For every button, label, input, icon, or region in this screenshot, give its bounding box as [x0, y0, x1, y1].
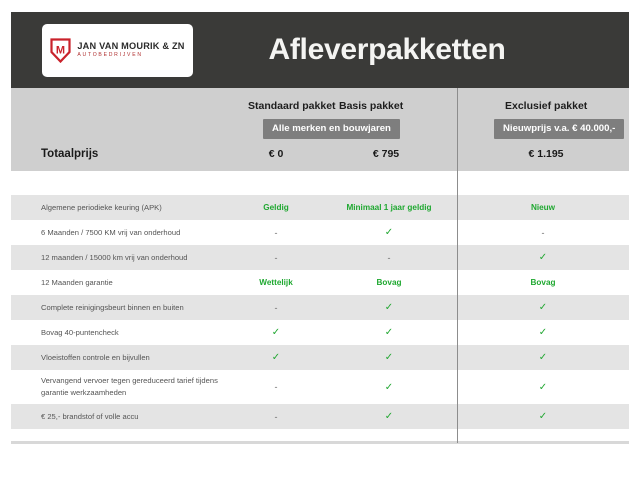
table-row: Bovag 40-puntencheck✓✓✓ — [11, 320, 629, 345]
feature-label: € 25,- brandstof of volle accu — [11, 411, 231, 423]
cell-value-col1: - — [231, 253, 321, 263]
column-divider-body — [457, 171, 458, 443]
column-label-exclusief: Exclusief pakket — [505, 100, 587, 112]
cell-value-col2: Bovag — [321, 278, 457, 287]
cell-value-col1: - — [231, 228, 321, 238]
cell-value-col3: ✓ — [457, 411, 629, 422]
cell-value-col3: ✓ — [457, 302, 629, 313]
cell-value-col2: Minimaal 1 jaar geldig — [321, 203, 457, 212]
cell-value-col3: ✓ — [457, 327, 629, 338]
feature-label: 12 Maanden garantie — [11, 277, 231, 289]
cell-value-col3: ✓ — [457, 352, 629, 363]
cell-value-col1: - — [231, 382, 321, 392]
logo-company-subtitle: AUTOBEDRIJVEN — [77, 53, 184, 58]
cell-value-col2: ✓ — [321, 302, 457, 313]
cell-value-col3: ✓ — [457, 252, 629, 263]
cell-value-col3: Nieuw — [457, 203, 629, 212]
table-row: Vloeistoffen controle en bijvullen✓✓✓ — [11, 345, 629, 370]
total-price-standaard: € 0 — [231, 148, 321, 160]
table-top-spacer — [11, 171, 629, 195]
feature-label: 12 maanden / 15000 km vrij van onderhoud — [11, 252, 231, 264]
cell-value-col1: ✓ — [231, 327, 321, 338]
cell-value-col1: ✓ — [231, 352, 321, 363]
badge-alle-merken-en-bouwjaren: Alle merken en bouwjaren — [263, 119, 400, 139]
total-price-exclusief: € 1.195 — [501, 148, 591, 160]
table-rows-host: Algemene periodieke keuring (APK)GeldigM… — [11, 195, 629, 429]
page-header: M JAN VAN MOURIK & ZN AUTOBEDRIJVEN Afle… — [11, 12, 629, 88]
table-row: Complete reinigingsbeurt binnen en buite… — [11, 295, 629, 320]
table-row: 6 Maanden / 7500 KM vrij van onderhoud-✓… — [11, 220, 629, 245]
cell-value-col1: Wettelijk — [231, 278, 321, 287]
cell-value-col3: Bovag — [457, 278, 629, 287]
table-row: 12 Maanden garantieWettelijkBovagBovag — [11, 270, 629, 295]
cell-value-col2: ✓ — [321, 352, 457, 363]
table-bottom-edge — [11, 441, 629, 444]
total-price-label: Totaalprijs — [41, 148, 98, 160]
logo-company-name: JAN VAN MOURIK & ZN — [77, 42, 184, 51]
cell-value-col2: ✓ — [321, 411, 457, 422]
cell-value-col2: ✓ — [321, 327, 457, 338]
column-labels: Standaard pakket Basis pakket Exclusief … — [11, 100, 629, 116]
company-logo: M JAN VAN MOURIK & ZN AUTOBEDRIJVEN — [42, 24, 193, 77]
svg-text:M: M — [56, 44, 65, 56]
cell-value-col2: - — [321, 253, 457, 263]
logo-text: JAN VAN MOURIK & ZN AUTOBEDRIJVEN — [77, 42, 184, 58]
badge-nieuwprijs: Nieuwprijs v.a. € 40.000,- — [494, 119, 624, 139]
features-table: Algemene periodieke keuring (APK)GeldigM… — [11, 171, 629, 443]
feature-label: Vloeistoffen controle en bijvullen — [11, 352, 231, 364]
cell-value-col1: - — [231, 303, 321, 313]
feature-label: Complete reinigingsbeurt binnen en buite… — [11, 302, 231, 314]
total-price-row: Totaalprijs € 0 € 795 € 1.195 — [11, 143, 629, 171]
afleverpakketten-page: M JAN VAN MOURIK & ZN AUTOBEDRIJVEN Afle… — [0, 0, 640, 480]
feature-label: 6 Maanden / 7500 KM vrij van onderhoud — [11, 227, 231, 239]
cell-value-col1: Geldig — [231, 203, 321, 212]
logo-inner: M JAN VAN MOURIK & ZN AUTOBEDRIJVEN — [50, 38, 184, 63]
cell-value-col2: ✓ — [321, 382, 457, 393]
table-row: € 25,- brandstof of volle accu-✓✓ — [11, 404, 629, 429]
cell-value-col2: ✓ — [321, 227, 457, 238]
cell-value-col3: ✓ — [457, 382, 629, 393]
page-title: Afleverpakketten — [193, 33, 629, 67]
total-price-basis: € 795 — [341, 148, 431, 160]
table-row: Algemene periodieke keuring (APK)GeldigM… — [11, 195, 629, 220]
shield-m-icon: M — [50, 38, 71, 63]
cell-value-col3: - — [457, 228, 629, 238]
column-label-standaard: Standaard pakket — [248, 100, 336, 112]
column-header-band: Standaard pakket Basis pakket Exclusief … — [11, 88, 629, 171]
feature-label: Vervangend vervoer tegen gereduceerd tar… — [11, 375, 231, 399]
table-row: 12 maanden / 15000 km vrij van onderhoud… — [11, 245, 629, 270]
column-label-basis: Basis pakket — [339, 100, 403, 112]
feature-label: Algemene periodieke keuring (APK) — [11, 202, 231, 214]
table-row: Vervangend vervoer tegen gereduceerd tar… — [11, 370, 629, 404]
cell-value-col1: - — [231, 412, 321, 422]
feature-label: Bovag 40-puntencheck — [11, 327, 231, 339]
